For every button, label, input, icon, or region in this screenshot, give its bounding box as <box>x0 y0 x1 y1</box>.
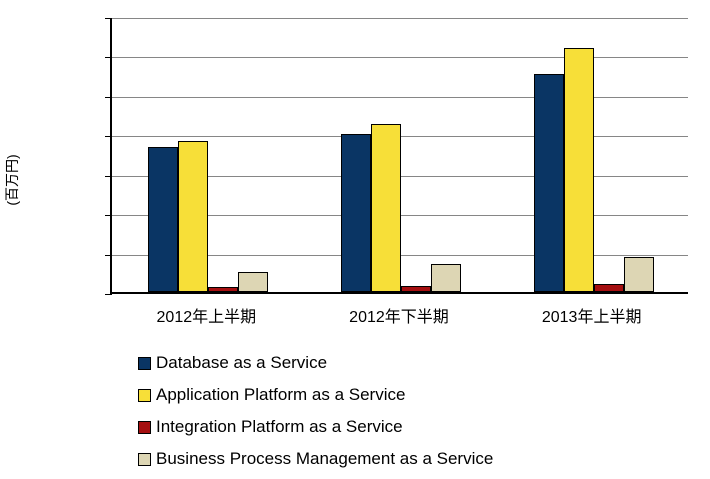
bar-3-2 <box>624 257 654 292</box>
bar-1-0 <box>178 141 208 292</box>
y-axis-tick <box>105 18 112 19</box>
bar-group <box>112 18 305 292</box>
y-axis-title: (百万円) <box>2 120 22 240</box>
y-axis-tick <box>105 176 112 177</box>
legend-swatch-icon <box>138 421 151 434</box>
legend-item[interactable]: Business Process Management as a Service <box>138 443 698 475</box>
legend-label: Database as a Service <box>156 354 327 372</box>
x-axis-label-0: 2012年上半期 <box>110 303 303 327</box>
legend-label: Business Process Management as a Service <box>156 450 493 468</box>
bar-0-2 <box>534 74 564 292</box>
bar-3-1 <box>431 264 461 292</box>
legend-swatch-icon <box>138 357 151 370</box>
bar-2-1 <box>401 286 431 292</box>
y-axis-tick <box>105 294 112 295</box>
bar-0-0 <box>148 147 178 292</box>
legend-item[interactable]: Integration Platform as a Service <box>138 411 698 443</box>
legend-item[interactable]: Application Platform as a Service <box>138 379 698 411</box>
bar-1-1 <box>371 124 401 292</box>
bar-group <box>305 18 498 292</box>
bar-2-2 <box>594 284 624 292</box>
plot-area: 01,0002,0003,0004,0005,0006,0007,000 <box>110 18 688 294</box>
bar-0-1 <box>341 134 371 292</box>
bar-2-0 <box>208 287 238 292</box>
legend-label: Integration Platform as a Service <box>156 418 403 436</box>
x-axis-category-labels: 2012年上半期2012年下半期2013年上半期 <box>110 303 688 327</box>
legend-swatch-icon <box>138 453 151 466</box>
x-axis-label-1: 2012年下半期 <box>303 303 496 327</box>
chart-legend: Database as a ServiceApplication Platfor… <box>138 347 698 475</box>
y-axis-tick <box>105 136 112 137</box>
y-axis-tick <box>105 57 112 58</box>
bar-1-2 <box>564 48 594 292</box>
bar-group <box>497 18 690 292</box>
x-axis-label-2: 2013年上半期 <box>495 303 688 327</box>
legend-label: Application Platform as a Service <box>156 386 405 404</box>
legend-swatch-icon <box>138 389 151 402</box>
bar-3-0 <box>238 272 268 292</box>
legend-item[interactable]: Database as a Service <box>138 347 698 379</box>
y-axis-tick <box>105 255 112 256</box>
y-axis-tick <box>105 97 112 98</box>
bar-chart: (百万円) 01,0002,0003,0004,0005,0006,0007,0… <box>0 0 710 479</box>
y-axis-tick <box>105 215 112 216</box>
